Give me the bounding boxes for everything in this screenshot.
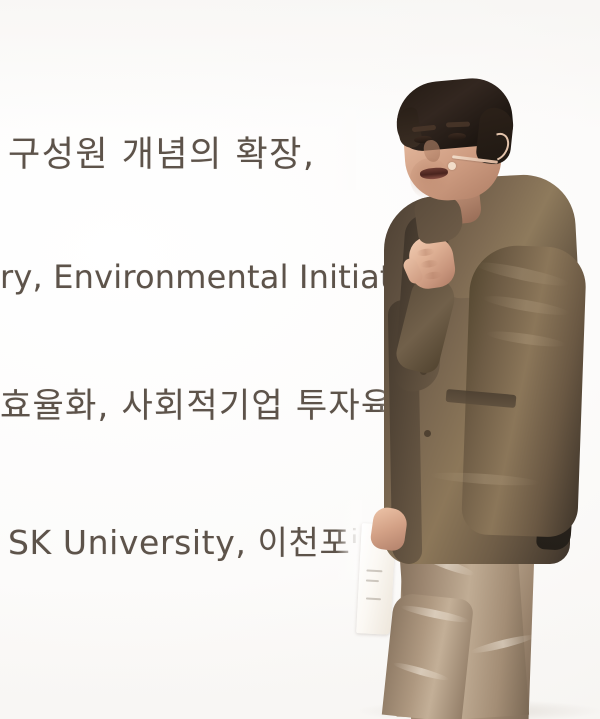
slide-line-4-clip: SK University, 이천포럼 [0,500,356,580]
slide-line-2: ry, Environmental Initiati [0,258,402,296]
slide-line-1: 구성원 개념의 확장, [8,126,315,177]
slide-line-2-clip: ry, Environmental Initiati [0,244,420,318]
slide-line-3: 효율화, 사회적기업 투자육 [0,378,393,427]
slide-line-1-clip: 구성원 개념의 확장, [0,110,352,190]
presentation-slide-text: 구성원 개념의 확장, ry, Environmental Initiati 효… [0,0,600,719]
slide-line-4: SK University, 이천포럼 [8,516,356,564]
screenshot-root: 구성원 개념의 확장, ry, Environmental Initiati 효… [0,0,600,719]
slide-line-3-clip: 효율화, 사회적기업 투자육 [0,364,399,442]
